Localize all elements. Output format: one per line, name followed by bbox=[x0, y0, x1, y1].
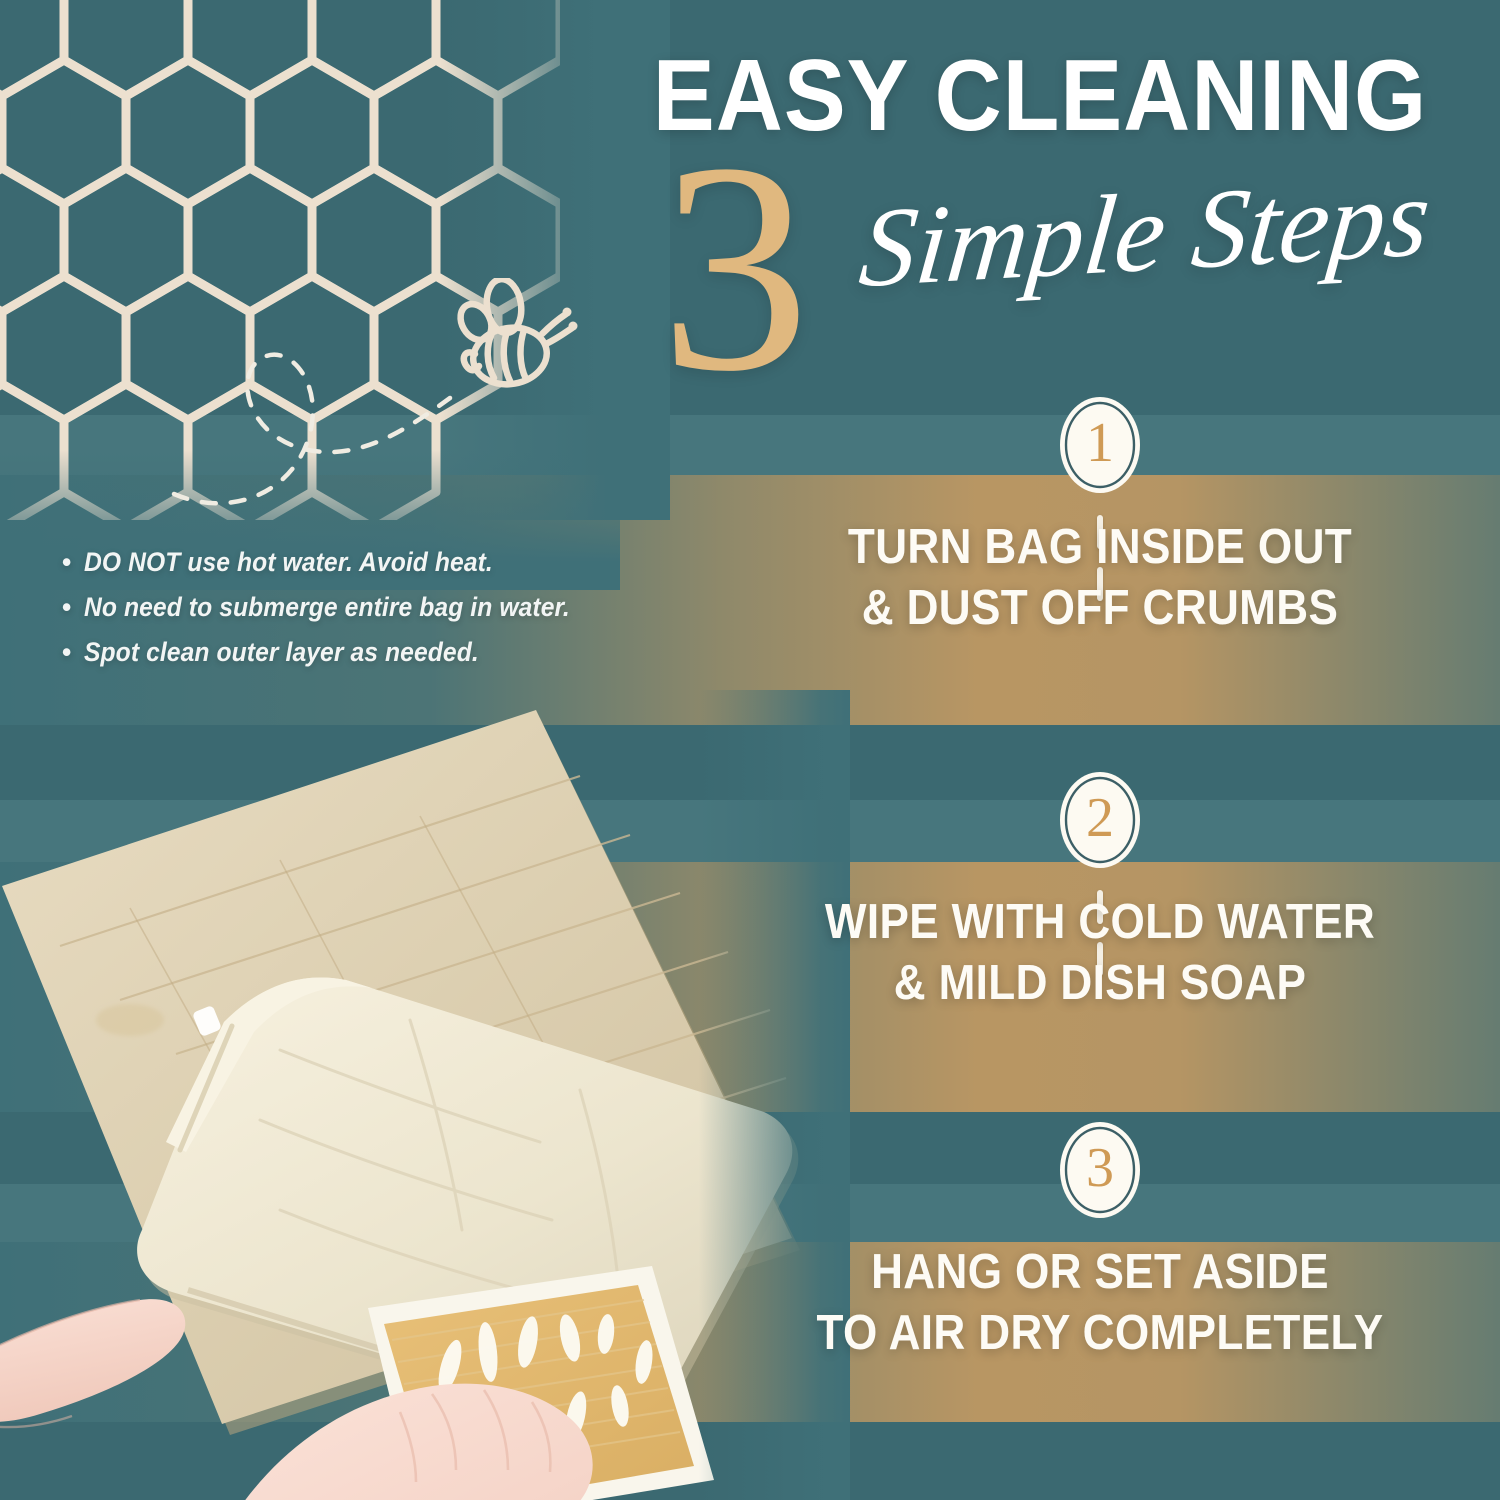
step-1-line-2: & DUST OFF CRUMBS bbox=[794, 578, 1406, 639]
steps-column: 1 TURN BAG INSIDE OUT & DUST OFF CRUMBS … bbox=[760, 395, 1440, 1405]
step-2-badge: 2 bbox=[1058, 770, 1142, 870]
step-1-number: 1 bbox=[1058, 395, 1142, 495]
list-item-label: No need to submerge entire bag in water. bbox=[84, 585, 570, 630]
step-3-line-2: TO AIR DRY COMPLETELY bbox=[794, 1303, 1406, 1364]
step-1-badge: 1 bbox=[1058, 395, 1142, 495]
step-2-line-1: WIPE WITH COLD WATER bbox=[794, 892, 1406, 953]
headline-script: Simple Steps bbox=[795, 155, 1496, 312]
list-item-label: Spot clean outer layer as needed. bbox=[84, 630, 479, 675]
list-item: • Spot clean outer layer as needed. bbox=[62, 630, 752, 675]
bee-icon bbox=[448, 278, 578, 396]
infographic-canvas: EASY CLEANING 3 Simple Steps • DO NOT us… bbox=[0, 0, 1500, 1500]
step-3-badge: 3 bbox=[1058, 1120, 1142, 1220]
list-item: • No need to submerge entire bag in wate… bbox=[62, 585, 752, 630]
care-tips-list: • DO NOT use hot water. Avoid heat. • No… bbox=[62, 540, 752, 675]
headline-block: EASY CLEANING 3 Simple Steps bbox=[600, 40, 1480, 340]
step-1-line-1: TURN BAG INSIDE OUT bbox=[794, 517, 1406, 578]
bullet-dot-icon: • bbox=[62, 540, 84, 585]
bullet-dot-icon: • bbox=[62, 630, 84, 675]
step-2-line-2: & MILD DISH SOAP bbox=[794, 953, 1406, 1014]
list-item-label: DO NOT use hot water. Avoid heat. bbox=[84, 540, 493, 585]
step-2: 2 WIPE WITH COLD WATER & MILD DISH SOAP bbox=[760, 770, 1440, 1014]
step-1: 1 TURN BAG INSIDE OUT & DUST OFF CRUMBS bbox=[760, 395, 1440, 639]
list-item: • DO NOT use hot water. Avoid heat. bbox=[62, 540, 752, 585]
step-3: 3 HANG OR SET ASIDE TO AIR DRY COMPLETEL… bbox=[760, 1120, 1440, 1364]
bullet-dot-icon: • bbox=[62, 585, 84, 630]
step-2-number: 2 bbox=[1058, 770, 1142, 870]
step-3-number: 3 bbox=[1058, 1120, 1142, 1220]
left-hand bbox=[0, 1299, 185, 1427]
step-3-line-1: HANG OR SET ASIDE bbox=[794, 1242, 1406, 1303]
